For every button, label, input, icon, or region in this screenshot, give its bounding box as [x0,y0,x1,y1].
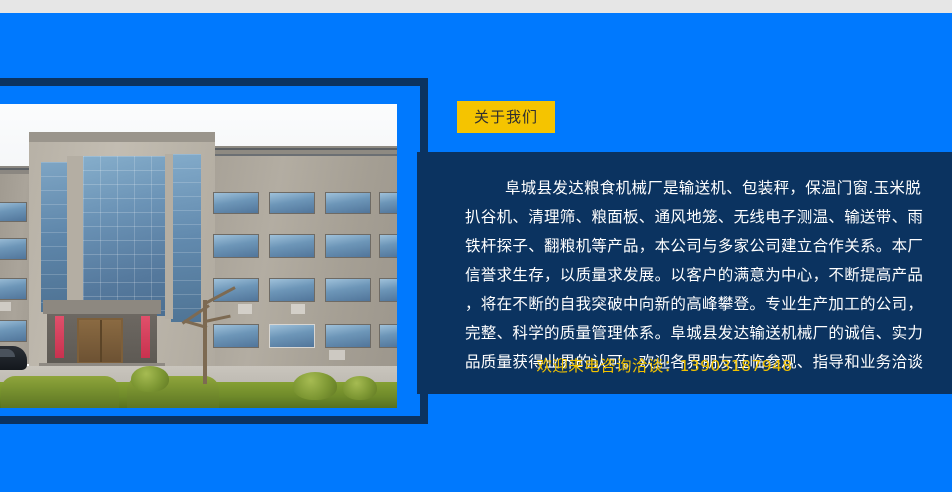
wing-window [379,234,397,258]
tower-mullion-2 [165,154,173,319]
wing-window [213,278,259,302]
entrance-canopy [43,300,161,314]
top-page-strip [0,0,952,13]
wing-window [269,192,315,214]
entrance-door [77,318,123,364]
wing-window [269,278,315,302]
company-photo-card [0,78,428,424]
ac-unit [238,304,252,314]
tower-mullion-1 [67,156,83,316]
tower-glass-right [171,154,201,322]
company-photo-inner-frame [0,86,420,416]
about-text-panel: 阜城县发达粮食机械厂是输送机、包装秤，保温门窗.玉米脱 扒谷机、清理筛、粮面板、… [417,152,952,394]
tree-trunk [203,300,207,384]
wing-window [213,192,259,214]
company-photo [0,104,397,408]
left-wing-window [0,202,27,222]
right-wing-railing-upper [203,148,397,150]
contact-phone-line[interactable]: 欢迎来电咨询洽谈：13903187948 [417,354,912,376]
wing-window [269,324,315,348]
wing-window [325,234,371,258]
entrance-banner-left [55,316,64,358]
wing-window [379,192,397,214]
wing-window [325,192,371,214]
tower-glass-center [83,156,165,316]
wing-window [325,278,371,302]
entrance-banner-right [141,316,150,358]
left-wing-window [0,238,27,260]
about-body-line: ，将在不断的自我突破中向新的高峰攀登。专业生产加工的公司， [465,290,952,319]
wing-window [379,324,397,348]
shrub [131,366,169,392]
about-body-line: 信誉求生存，以质量求发展。以客户的满意为中心，不断提高产品 [465,261,952,290]
ac-unit [329,350,345,360]
factory-building-image [0,104,397,408]
left-wing-window [0,320,27,342]
wing-window [213,234,259,258]
about-body-line: 铁杆探子、翻粮机等产品，本公司与多家公司建立合作关系。本厂 [465,232,952,261]
about-body-text: 阜城县发达粮食机械厂是输送机、包装秤，保温门窗.玉米脱 扒谷机、清理筛、粮面板、… [465,174,952,377]
wing-window [213,324,259,348]
about-body-line: 阜城县发达粮食机械厂是输送机、包装秤，保温门窗.玉米脱 [465,174,952,203]
wing-window [269,234,315,258]
hedge-left [1,376,119,408]
left-wing-window [0,278,27,300]
ac-unit [0,302,11,311]
shrub [343,376,377,400]
ac-unit [291,304,305,314]
central-tower-cap [29,132,215,142]
page-root: 关于我们 阜城县发达粮食机械厂是输送机、包装秤，保温门窗.玉米脱 扒谷机、清理筛… [0,0,952,492]
wing-window [325,324,371,348]
about-body-line: 扒谷机、清理筛、粮面板、通风地笼、无线电子测温、输送带、雨 [465,203,952,232]
wing-window [379,278,397,302]
tower-glass-left [41,162,67,312]
parked-car [0,346,27,370]
shrub [293,372,337,400]
about-us-button[interactable]: 关于我们 [457,101,555,133]
about-body-line: 完整、科学的质量管理体系。阜城县发达输送机械厂的诚信、实力 [465,319,952,348]
